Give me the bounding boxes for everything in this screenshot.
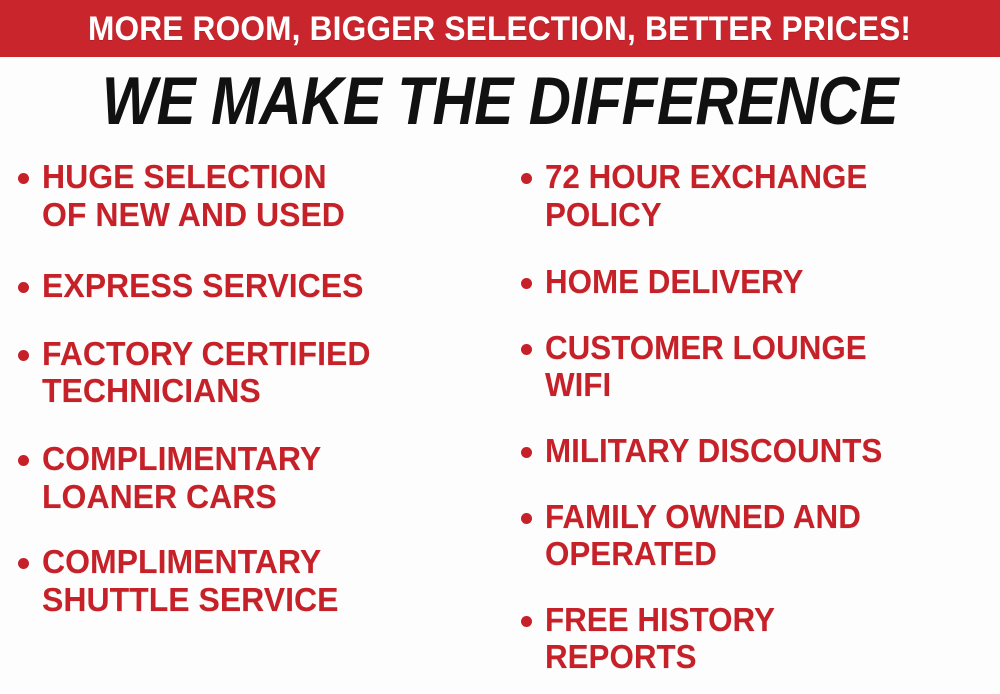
list-item-label: FREE HISTORY REPORTS [545,601,775,676]
list-item-label: MILITARY DISCOUNTS [545,432,882,470]
bullet-dot-icon [521,278,532,289]
list-item: 72 HOUR EXCHANGE POLICY [521,158,1000,233]
bullet-dot-icon [18,282,29,293]
list-item-label: HUGE SELECTION OF NEW AND USED [42,158,345,233]
bullet-dot-icon [521,447,532,458]
list-item: FACTORY CERTIFIED TECHNICIANS [18,335,505,410]
bullet-dot-icon [521,173,532,184]
list-item-label: 72 HOUR EXCHANGE POLICY [545,158,867,233]
banner-headline-text: MORE ROOM, BIGGER SELECTION, BETTER PRIC… [88,12,911,46]
list-item-label: FACTORY CERTIFIED TECHNICIANS [42,335,370,410]
list-item-label: FAMILY OWNED AND OPERATED [545,498,861,573]
page-title: WE MAKE THE DIFFERENCE [102,67,898,135]
list-item-label: COMPLIMENTARY LOANER CARS [42,440,321,515]
list-item: EXPRESS SERVICES [18,267,505,305]
headline-container: WE MAKE THE DIFFERENCE [0,62,1000,140]
bullet-dot-icon [18,173,29,184]
bullet-dot-icon [521,513,532,524]
top-banner: MORE ROOM, BIGGER SELECTION, BETTER PRIC… [0,0,1000,57]
bullet-dot-icon [521,616,532,627]
list-item-label: COMPLIMENTARY SHUTTLE SERVICE [42,543,338,618]
list-item-label: CUSTOMER LOUNGE WIFI [545,329,867,404]
list-item: COMPLIMENTARY SHUTTLE SERVICE [18,543,505,618]
bullet-dot-icon [18,455,29,466]
list-item: HOME DELIVERY [521,263,1000,301]
list-item: COMPLIMENTARY LOANER CARS [18,440,505,515]
list-item: FREE HISTORY REPORTS [521,601,1000,676]
list-item-label: EXPRESS SERVICES [42,267,363,305]
list-item-label: HOME DELIVERY [545,263,803,301]
bullet-dot-icon [18,558,29,569]
promo-poster: MORE ROOM, BIGGER SELECTION, BETTER PRIC… [0,0,1000,694]
benefits-columns: HUGE SELECTION OF NEW AND USED EXPRESS S… [0,148,1000,694]
list-item: CUSTOMER LOUNGE WIFI [521,329,1000,404]
benefits-column-right: 72 HOUR EXCHANGE POLICY HOME DELIVERY CU… [505,148,1000,694]
bullet-dot-icon [18,350,29,361]
bullet-dot-icon [521,344,532,355]
list-item: MILITARY DISCOUNTS [521,432,1000,470]
list-item: FAMILY OWNED AND OPERATED [521,498,1000,573]
list-item: HUGE SELECTION OF NEW AND USED [18,158,505,233]
benefits-column-left: HUGE SELECTION OF NEW AND USED EXPRESS S… [0,148,505,650]
